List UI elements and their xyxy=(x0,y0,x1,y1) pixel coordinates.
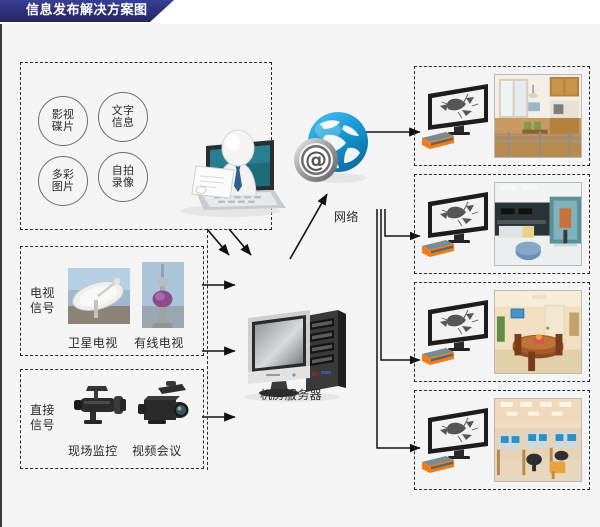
satellite-tv-label: 卫星电视 xyxy=(68,336,118,350)
satellite-dish-icon xyxy=(68,268,130,324)
circle-selfie-video-line2: 录像 xyxy=(112,177,135,190)
site-surveillance-label: 现场监控 xyxy=(68,444,118,458)
server-label: 机房服务器 xyxy=(260,388,322,402)
laptop-user-icon xyxy=(170,110,286,220)
circle-video-disc: 影视 碟片 xyxy=(38,96,88,146)
circle-text-info: 文字 信息 xyxy=(98,92,148,142)
endpoint-3-media-box-icon xyxy=(420,346,456,368)
surveillance-camera-icon xyxy=(70,382,132,426)
cable-tv-tower-icon xyxy=(142,262,184,328)
tv-signal-label-line1: 电视 xyxy=(30,286,55,301)
solution-diagram-page: 信息发布解决方案图 xyxy=(0,0,600,527)
network-globe-icon: @ xyxy=(290,102,374,188)
direct-signal-group-label: 直接 信号 xyxy=(30,403,55,433)
endpoint-1-scene-photo xyxy=(494,74,582,158)
circle-video-disc-line2: 碟片 xyxy=(52,121,75,134)
video-camera-icon xyxy=(136,380,198,428)
endpoint-3-scene-photo xyxy=(494,290,582,374)
network-label: 网络 xyxy=(334,210,359,224)
circle-text-info-line2: 信息 xyxy=(112,117,135,130)
diagram-canvas: 影视 碟片 文字 信息 多彩 图片 自拍 录像 xyxy=(0,24,600,527)
circle-selfie-video: 自拍 录像 xyxy=(98,152,148,202)
page-title: 信息发布解决方案图 xyxy=(0,0,148,22)
title-bar-wedge xyxy=(150,0,174,22)
title-bar: 信息发布解决方案图 xyxy=(0,0,150,22)
circle-color-image: 多彩 图片 xyxy=(38,156,88,206)
circle-color-image-line2: 图片 xyxy=(52,181,75,194)
cable-tv-label: 有线电视 xyxy=(134,336,184,350)
svg-text:@: @ xyxy=(305,148,327,173)
tv-signal-group-label: 电视 信号 xyxy=(30,286,55,316)
video-conference-label: 视频会议 xyxy=(132,444,182,458)
direct-signal-label-line2: 信号 xyxy=(30,418,55,433)
endpoint-2-media-box-icon xyxy=(420,238,456,260)
endpoint-1-media-box-icon xyxy=(420,130,456,152)
source-bus-line xyxy=(207,230,208,470)
tv-signal-label-line2: 信号 xyxy=(30,301,55,316)
endpoint-4-scene-photo xyxy=(494,398,582,482)
endpoint-4-media-box-icon xyxy=(420,454,456,476)
direct-signal-label-line1: 直接 xyxy=(30,403,55,418)
endpoint-2-scene-photo xyxy=(494,182,582,266)
